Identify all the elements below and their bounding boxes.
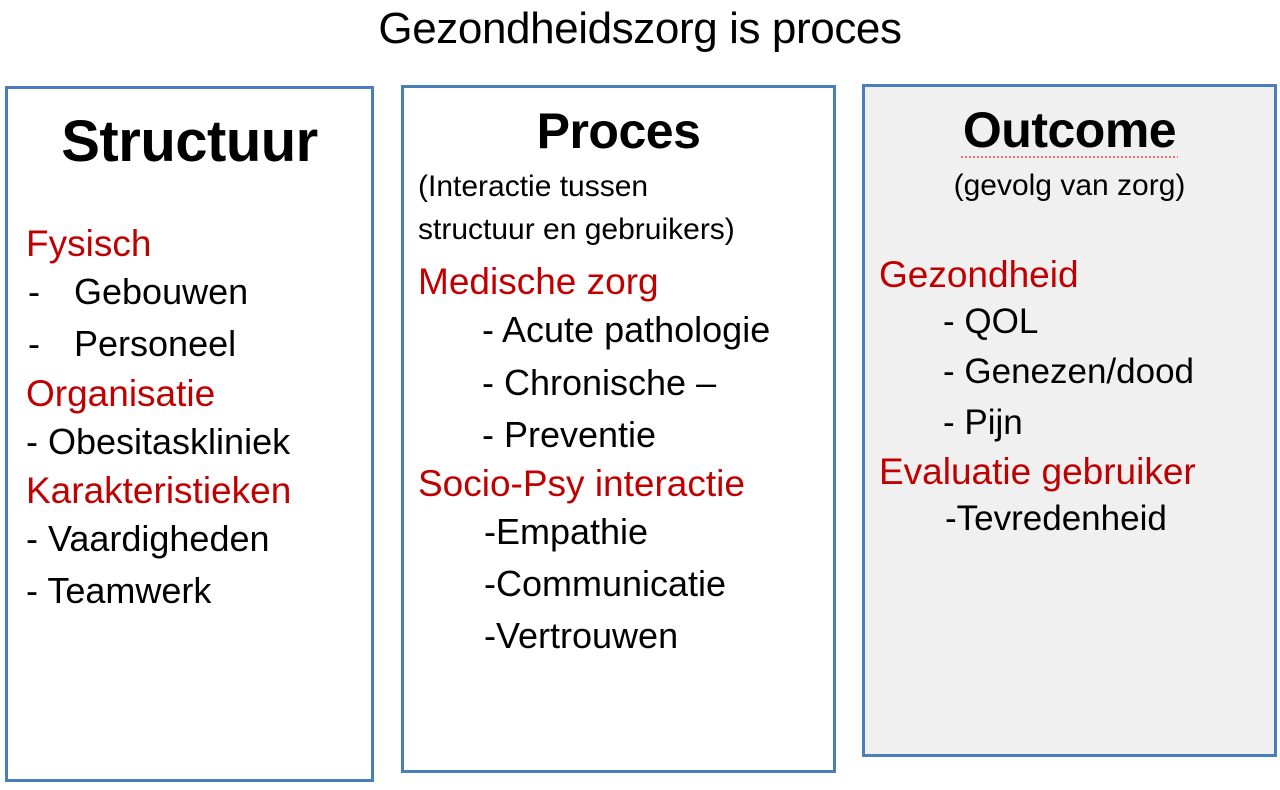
list-item: - Obesitaskliniek bbox=[26, 416, 371, 468]
panel-outcome-heading: Outcome bbox=[865, 105, 1274, 155]
list-item: -Gebouwen bbox=[26, 266, 371, 318]
group-title-medische-zorg: Medische zorg bbox=[418, 259, 833, 304]
panel-outcome: Outcome (gevolg van zorg) Gezondheid - Q… bbox=[862, 84, 1277, 757]
list-item: - Genezen/dood bbox=[879, 347, 1274, 398]
slide-title: Gezondheidszorg is proces bbox=[0, 4, 1280, 54]
group-title-evaluatie-gebruiker: Evaluatie gebruiker bbox=[879, 449, 1274, 494]
group-fysisch: Fysisch -Gebouwen -Personeel bbox=[26, 221, 371, 371]
list-item: -Communicatie bbox=[418, 558, 833, 610]
list-item: - QOL bbox=[879, 297, 1274, 348]
panel-structuur-body: Fysisch -Gebouwen -Personeel Organisatie… bbox=[8, 221, 371, 617]
list-item: - Preventie bbox=[418, 409, 833, 461]
panel-proces-subheading-line1: (Interactie tussen bbox=[418, 166, 833, 209]
panel-proces-body: Medische zorg - Acute pathologie - Chron… bbox=[404, 259, 833, 662]
group-medische-zorg: Medische zorg - Acute pathologie - Chron… bbox=[418, 259, 833, 461]
panel-structuur-heading: Structuur bbox=[8, 113, 371, 171]
group-organisatie: Organisatie - Obesitaskliniek bbox=[26, 371, 371, 468]
group-title-gezondheid: Gezondheid bbox=[879, 252, 1274, 297]
list-item: - Chronische – bbox=[418, 357, 833, 409]
group-socio-psy-interactie: Socio-Psy interactie -Empathie -Communic… bbox=[418, 461, 833, 663]
panel-proces-subheading-line2: structuur en gebruikers) bbox=[418, 209, 833, 252]
list-item: - Pijn bbox=[879, 398, 1274, 449]
group-gezondheid: Gezondheid - QOL - Genezen/dood - Pijn bbox=[879, 252, 1274, 449]
list-item: -Vertrouwen bbox=[418, 610, 833, 662]
list-item: - Acute pathologie bbox=[418, 304, 833, 356]
list-item-label: Gebouwen bbox=[74, 271, 248, 312]
panel-outcome-subheading: (gevolg van zorg) bbox=[865, 165, 1274, 208]
group-title-socio-psy-interactie: Socio-Psy interactie bbox=[418, 461, 833, 506]
panel-proces: Proces (Interactie tussen structuur en g… bbox=[401, 85, 836, 773]
list-item-label: Personeel bbox=[74, 323, 236, 364]
group-karakteristieken: Karakteristieken - Vaardigheden - Teamwe… bbox=[26, 468, 371, 618]
list-item: - Teamwerk bbox=[26, 565, 371, 617]
panel-outcome-body: Gezondheid - QOL - Genezen/dood - Pijn E… bbox=[865, 252, 1274, 545]
dash-marker: - bbox=[28, 318, 74, 370]
panel-proces-heading: Proces bbox=[404, 106, 833, 156]
list-item: -Empathie bbox=[418, 506, 833, 558]
group-evaluatie-gebruiker: Evaluatie gebruiker -Tevredenheid bbox=[879, 449, 1274, 545]
dash-marker: - bbox=[28, 266, 74, 318]
panel-proces-subheading: (Interactie tussen structuur en gebruike… bbox=[404, 166, 833, 251]
list-item: -Personeel bbox=[26, 318, 371, 370]
group-title-organisatie: Organisatie bbox=[26, 371, 371, 416]
group-title-fysisch: Fysisch bbox=[26, 221, 371, 266]
group-title-karakteristieken: Karakteristieken bbox=[26, 468, 371, 513]
panel-outcome-heading-text: Outcome bbox=[963, 105, 1176, 155]
list-item: - Vaardigheden bbox=[26, 513, 371, 565]
list-item: -Tevredenheid bbox=[879, 494, 1274, 545]
panel-structuur: Structuur Fysisch -Gebouwen -Personeel O… bbox=[5, 86, 374, 782]
